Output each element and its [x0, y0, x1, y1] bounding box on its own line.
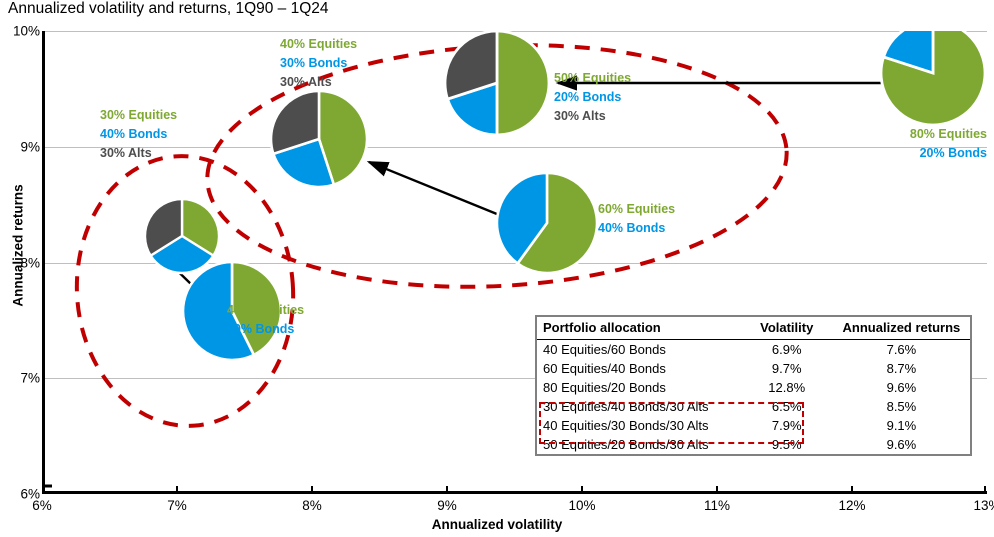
callout-equities-label: 50% Equities [554, 69, 631, 88]
x-axis-ticks: 6% 7% 8% 9% 10% 11% 12% 13% [42, 498, 987, 518]
x-tick-13: 13% [973, 498, 994, 513]
cell-volatility: 6.9% [741, 340, 831, 360]
callout-bonds-label: 40% Bonds [100, 125, 177, 144]
callout-80-20: 80% Equities 20% Bonds [837, 125, 987, 163]
callout-equities-label: 60% Equities [598, 200, 675, 219]
chart-title: Annualized volatility and returns, 1Q90 … [8, 0, 329, 18]
pie-marker-50-20-30[interactable] [445, 31, 549, 135]
callout-equities-label: 40% Equities [280, 35, 357, 54]
cell-returns: 9.6% [831, 435, 970, 454]
table-row: 80 Equities/20 Bonds 12.8% 9.6% [537, 378, 970, 397]
arrow-60-40-to-40-30-30 [369, 162, 514, 221]
cell-returns: 7.6% [831, 340, 970, 360]
callout-bonds-label: 20% Bonds [837, 144, 987, 163]
cell-portfolio: 30 Equities/40 Bonds/30 Alts [537, 397, 741, 416]
table-header-portfolio: Portfolio allocation [537, 317, 741, 340]
cell-returns: 9.6% [831, 378, 970, 397]
x-tick-11: 11% [704, 498, 730, 513]
callout-alts-label: 30% Alts [554, 107, 631, 126]
table-row: 50 Equities/20 Bonds/30 Alts 9.5% 9.6% [537, 435, 970, 454]
cell-returns: 8.7% [831, 359, 970, 378]
cell-portfolio: 40 Equities/30 Bonds/30 Alts [537, 416, 741, 435]
x-axis-title: Annualized volatility [0, 517, 994, 532]
y-tick-7: 7% [2, 371, 40, 386]
callout-alts-label: 30% Alts [280, 73, 357, 92]
table-row: 40 Equities/60 Bonds 6.9% 7.6% [537, 340, 970, 360]
pie-slice-equities [497, 31, 549, 135]
pie-marker-60-40[interactable] [497, 173, 597, 273]
x-tick-8: 8% [302, 498, 322, 513]
x-tick-12: 12% [838, 498, 865, 513]
x-tick-7: 7% [167, 498, 187, 513]
table-row: 40 Equities/30 Bonds/30 Alts 7.9% 9.1% [537, 416, 970, 435]
chart-container: Annualized volatility and returns, 1Q90 … [0, 0, 994, 537]
portfolio-allocation-table: Portfolio allocation Volatility Annualiz… [535, 315, 972, 456]
y-axis-title: Annualized returns [11, 146, 26, 346]
cell-volatility: 9.5% [741, 435, 831, 454]
table-row: 60 Equities/40 Bonds 9.7% 8.7% [537, 359, 970, 378]
cell-volatility: 6.5% [741, 397, 831, 416]
table-row: 30 Equities/40 Bonds/30 Alts 6.5% 8.5% [537, 397, 970, 416]
callout-equities-label: 40% Equities [227, 301, 304, 320]
table-header-returns: Annualized returns [831, 317, 970, 340]
x-tick-10: 10% [568, 498, 595, 513]
cell-portfolio: 80 Equities/20 Bonds [537, 378, 741, 397]
table-header-volatility: Volatility [741, 317, 831, 340]
callout-40-60: 40% Equities 60% Bonds [227, 301, 304, 339]
cell-portfolio: 50 Equities/20 Bonds/30 Alts [537, 435, 741, 454]
callout-bonds-label: 40% Bonds [598, 219, 675, 238]
pie-marker-80-20[interactable] [881, 31, 985, 125]
cell-volatility: 12.8% [741, 378, 831, 397]
y-tick-10: 10% [2, 24, 40, 39]
cell-portfolio: 40 Equities/60 Bonds [537, 340, 741, 360]
pie-marker-40-30-30[interactable] [271, 91, 367, 187]
cell-volatility: 7.9% [741, 416, 831, 435]
callout-50-20-30: 50% Equities 20% Bonds 30% Alts [554, 69, 631, 126]
pie-marker-30-40-30[interactable] [145, 199, 219, 273]
callout-bonds-label: 20% Bonds [554, 88, 631, 107]
callout-equities-label: 30% Equities [100, 106, 177, 125]
callout-alts-label: 30% Alts [100, 144, 177, 163]
callout-40-30-30: 40% Equities 30% Bonds 30% Alts [280, 35, 357, 92]
x-tick-6: 6% [32, 498, 52, 513]
callout-30-40-30: 30% Equities 40% Bonds 30% Alts [100, 106, 177, 163]
cell-portfolio: 60 Equities/40 Bonds [537, 359, 741, 378]
callout-bonds-label: 30% Bonds [280, 54, 357, 73]
callout-60-40: 60% Equities 40% Bonds [598, 200, 675, 238]
callout-bonds-label: 60% Bonds [227, 320, 304, 339]
x-tick-9: 9% [437, 498, 457, 513]
table-header-row: Portfolio allocation Volatility Annualiz… [537, 317, 970, 340]
callout-equities-label: 80% Equities [837, 125, 987, 144]
cell-returns: 9.1% [831, 416, 970, 435]
cell-returns: 8.5% [831, 397, 970, 416]
cell-volatility: 9.7% [741, 359, 831, 378]
